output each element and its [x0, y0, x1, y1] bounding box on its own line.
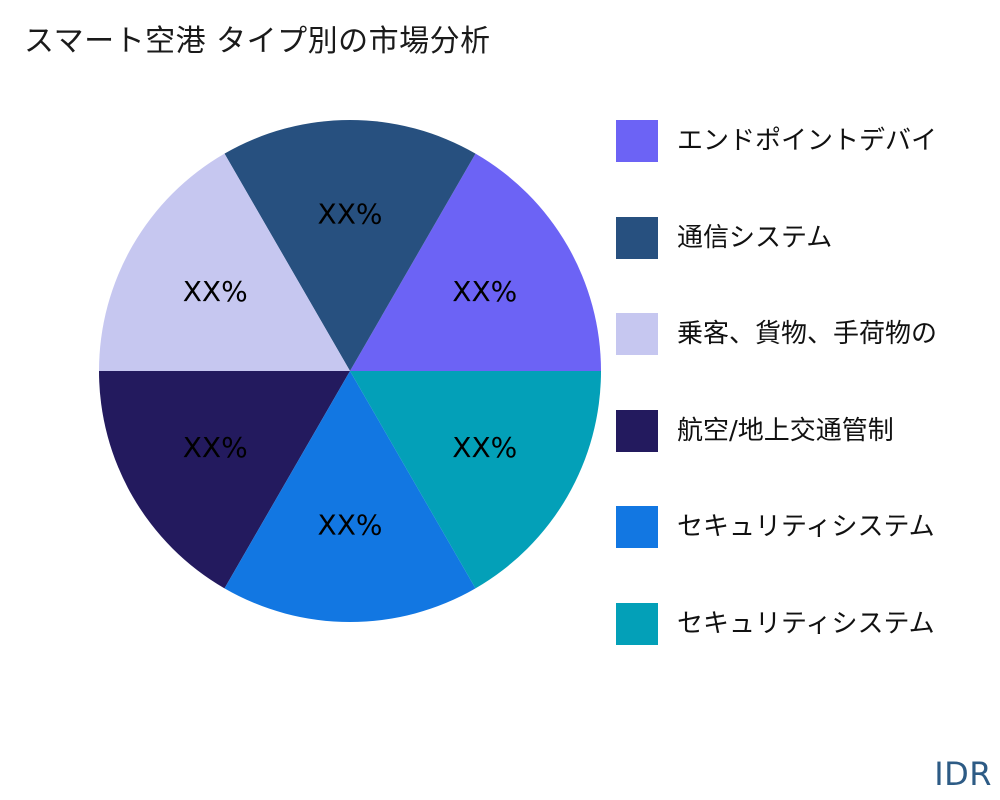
legend-color-swatch	[616, 120, 658, 162]
legend-item-label: セキュリティシステム	[677, 609, 935, 639]
legend-color-swatch	[616, 506, 658, 548]
legend-item-label: エンドポイントデバイ	[677, 126, 937, 156]
pie-slice-label: XX%	[452, 275, 517, 308]
pie-slice-label: XX%	[183, 275, 248, 308]
pie-slice-label: XX%	[183, 431, 248, 464]
pie-svg: XX%XX%XX%XX%XX%XX%	[99, 120, 601, 622]
legend-item[interactable]: セキュリティシステム	[616, 601, 935, 647]
chart-legend: エンドポイントデバイ通信システム乗客、貨物、手荷物の航空/地上交通管制セキュリテ…	[616, 118, 1000, 678]
legend-item-label: セキュリティシステム	[677, 512, 935, 542]
legend-item[interactable]: 通信システム	[616, 215, 832, 261]
legend-color-swatch	[616, 313, 658, 355]
pie-slice-label: XX%	[318, 197, 383, 230]
legend-color-swatch	[616, 217, 658, 259]
pie-slice-label: XX%	[452, 431, 517, 464]
legend-item[interactable]: エンドポイントデバイ	[616, 118, 937, 164]
pie-chart-figure: スマート空港 タイプ別の市場分析 XX%XX%XX%XX%XX%XX% エンドポ…	[0, 0, 1000, 800]
legend-item[interactable]: 乗客、貨物、手荷物の	[616, 311, 937, 357]
legend-item[interactable]: セキュリティシステム	[616, 504, 935, 550]
pie-slices-group	[99, 120, 601, 622]
pie-chart-plot-area: XX%XX%XX%XX%XX%XX%	[99, 120, 601, 622]
legend-item-label: 乗客、貨物、手荷物の	[677, 319, 937, 349]
legend-item[interactable]: 航空/地上交通管制	[616, 408, 894, 454]
legend-color-swatch	[616, 603, 658, 645]
legend-color-swatch	[616, 410, 658, 452]
watermark-text: IDR	[934, 754, 992, 794]
legend-item-label: 通信システム	[677, 223, 832, 253]
legend-item-label: 航空/地上交通管制	[677, 416, 894, 446]
pie-slice-label: XX%	[318, 509, 383, 542]
chart-title: スマート空港 タイプ別の市場分析	[24, 22, 491, 62]
